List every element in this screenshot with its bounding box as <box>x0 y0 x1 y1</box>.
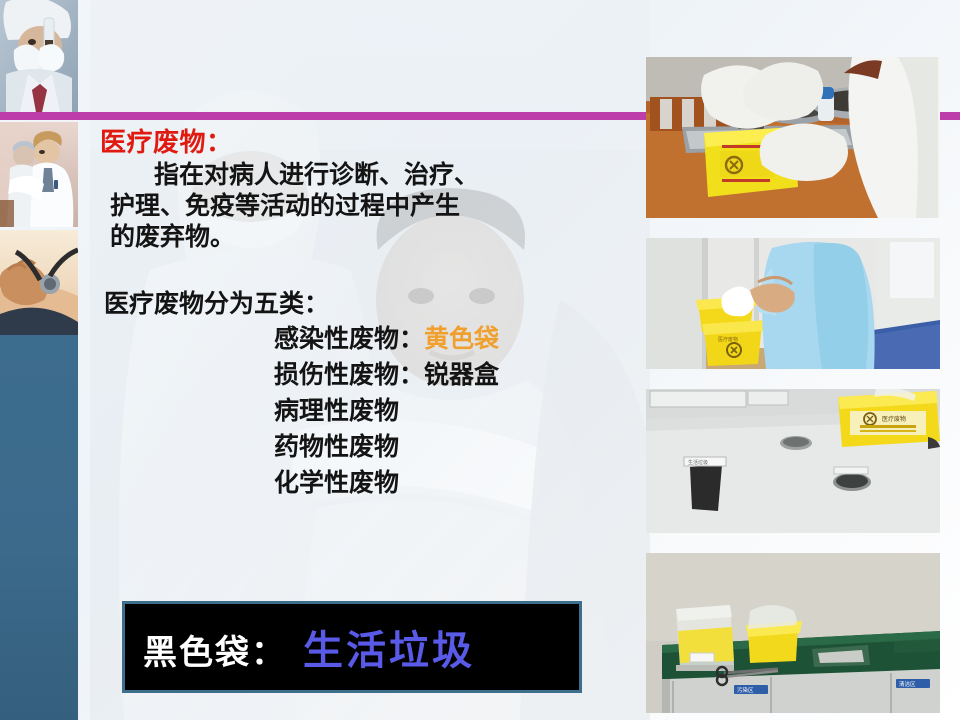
green-bench-waste-containers-photo: 污染区 清洁区 <box>646 553 940 713</box>
list-item: 损伤性废物：锐器盒 <box>274 357 640 393</box>
list-item: 病理性废物 <box>274 393 640 429</box>
svg-text:医疗废物: 医疗废物 <box>882 415 906 423</box>
category-value: 锐器盒 <box>424 361 499 389</box>
list-item: 感染性废物：黄色袋 <box>274 321 640 357</box>
black-bag-callout-box: 黑色袋： 生活垃圾 <box>122 601 582 693</box>
yellow-waste-bin-photo: 医疗废物 <box>646 238 940 369</box>
category-label: 病理性废物 <box>274 397 399 425</box>
sidebar-color-block <box>0 335 78 720</box>
lab-technician-with-sample-photo <box>0 0 78 112</box>
category-label: 感染性废物： <box>274 325 424 353</box>
callout-emphasis: 生活垃圾 <box>303 618 475 676</box>
category-label: 药物性废物 <box>274 433 399 461</box>
list-item: 药物性废物 <box>274 429 640 465</box>
definition-line-2: 护理、免疫等活动的过程中产生 <box>110 191 640 222</box>
waste-category-list: 感染性废物：黄色袋 损伤性废物：锐器盒 病理性废物 药物性废物 化学性废物 <box>274 321 640 501</box>
svg-text:生活垃圾: 生活垃圾 <box>688 459 708 466</box>
definition-line-3: 的废弃物。 <box>110 222 640 253</box>
definition-line-1: 指在对病人进行诊断、治疗、 <box>110 160 640 191</box>
left-photo-strip <box>0 0 78 720</box>
svg-text:清洁区: 清洁区 <box>899 680 916 688</box>
right-photo-column: 医疗废物 <box>646 0 946 720</box>
list-item: 化学性废物 <box>274 465 640 501</box>
counter-with-sharps-box-photo: 生活垃圾 医疗废物 <box>646 389 940 533</box>
nurses-in-ward-photo <box>0 122 78 227</box>
category-value: 黄色袋 <box>424 325 499 353</box>
svg-text:医疗废物: 医疗废物 <box>718 336 738 343</box>
page-title: 医疗废物： <box>100 126 640 158</box>
slide-canvas: 医疗废物： 指在对病人进行诊断、治疗、 护理、免疫等活动的过程中产生 的废弃物。… <box>0 0 960 720</box>
callout-label: 黑色袋： <box>143 625 287 674</box>
svg-text:污染区: 污染区 <box>737 686 754 694</box>
category-label: 化学性废物 <box>274 469 399 497</box>
sharps-container-disposal-photo <box>646 57 940 218</box>
list-heading: 医疗废物分为五类： <box>104 289 640 319</box>
stethoscope-examination-photo <box>0 230 78 335</box>
category-label: 损伤性废物： <box>274 361 424 389</box>
slide-text-content: 医疗废物： 指在对病人进行诊断、治疗、 护理、免疫等活动的过程中产生 的废弃物。… <box>100 126 640 501</box>
definition-paragraph: 指在对病人进行诊断、治疗、 护理、免疫等活动的过程中产生 的废弃物。 <box>110 160 640 253</box>
